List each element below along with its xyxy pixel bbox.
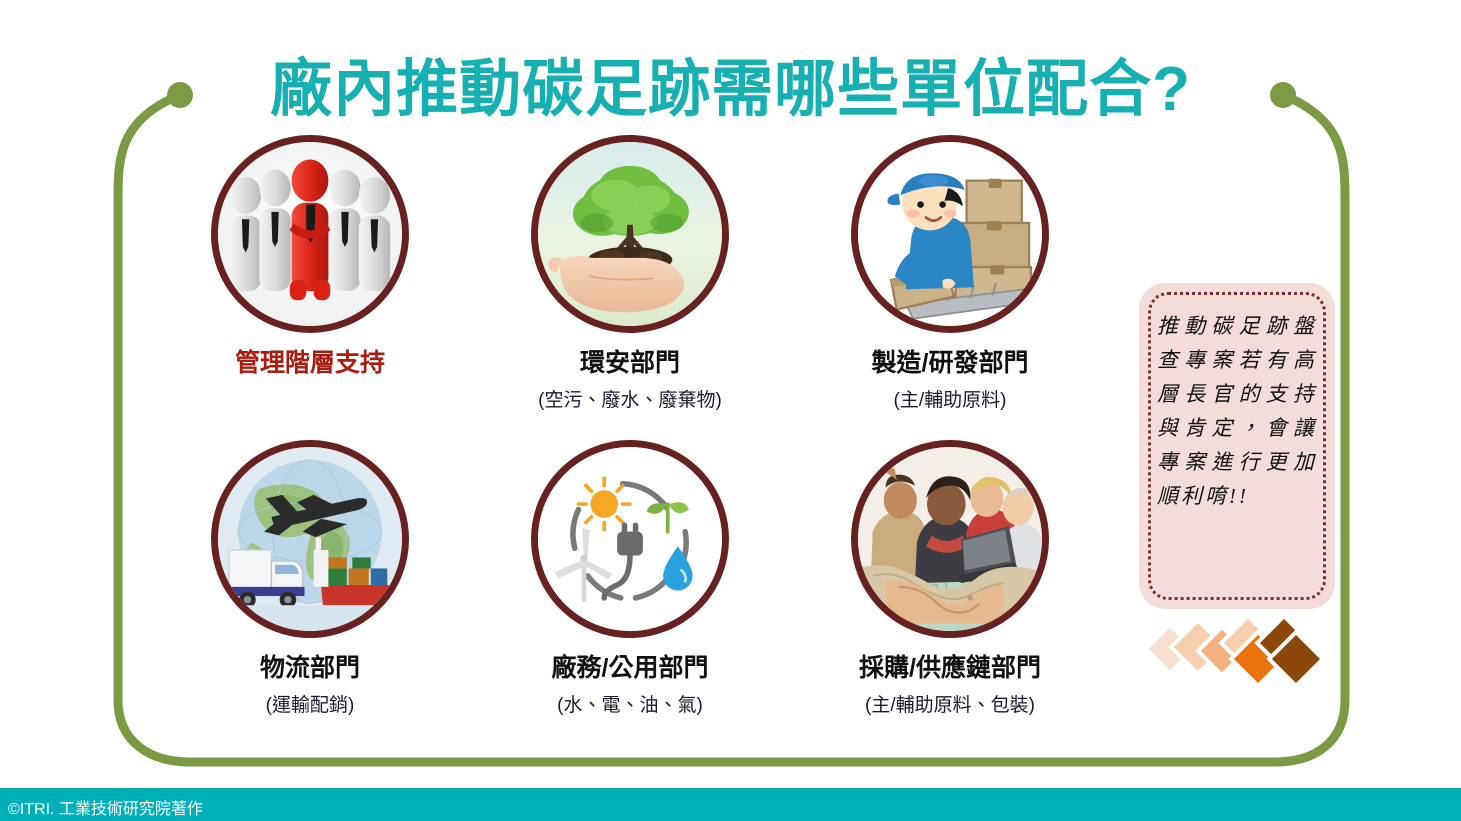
business-team-leader-icon [211, 135, 409, 333]
department-card-procurement-supply-chain[interactable]: 採購/供應鏈部門 (主/輔助原料、包裝) [790, 440, 1110, 717]
department-label: 物流部門 [150, 654, 470, 683]
footer-bar: ©ITRI. 工業技術研究院著作 [0, 788, 1461, 821]
department-card-logistics[interactable]: 物流部門 (運輸配銷) [150, 440, 470, 717]
page-title: 廠內推動碳足跡需哪些單位配合? [0, 38, 1461, 128]
slide-canvas: 廠內推動碳足跡需哪些單位配合? [0, 0, 1461, 821]
department-sublabel: (水、電、油、氣) [470, 690, 790, 717]
tip-note-card: 推動碳足跡盤查專案若有高層長官的支持與肯定，會讓專案進行更加順利唷!! [1139, 283, 1335, 609]
worker-packing-boxes-icon [851, 135, 1049, 333]
hand-holding-tree-icon [531, 135, 729, 333]
department-label: 環安部門 [470, 349, 790, 378]
department-sublabel: (運輸配銷) [150, 690, 470, 717]
department-label: 廠務/公用部門 [470, 654, 790, 683]
energy-utilities-plug-icon [531, 440, 729, 638]
department-sublabel: (主/輔助原料) [790, 385, 1110, 412]
department-card-manufacturing-rd[interactable]: 製造/研發部門 (主/輔助原料) [790, 135, 1110, 412]
department-sublabel: (主/輔助原料、包裝) [790, 690, 1110, 717]
department-grid: 管理階層支持 [150, 135, 1110, 755]
department-card-management-support[interactable]: 管理階層支持 [150, 135, 470, 385]
department-label: 製造/研發部門 [790, 349, 1110, 378]
copyright-text: ©ITRI. 工業技術研究院著作 [8, 795, 203, 819]
handshake-business-deal-icon [851, 440, 1049, 638]
department-sublabel: (空污、廢水、廢棄物) [470, 385, 790, 412]
department-label: 採購/供應鏈部門 [790, 654, 1110, 683]
department-label: 管理階層支持 [150, 349, 470, 378]
tip-note-text: 推動碳足跡盤查專案若有高層長官的支持與肯定，會讓專案進行更加順利唷!! [1157, 309, 1317, 513]
department-card-environment-safety[interactable]: 環安部門 (空污、廢水、廢棄物) [470, 135, 790, 412]
globe-plane-truck-ship-icon [211, 440, 409, 638]
department-card-facility-utility[interactable]: 廠務/公用部門 (水、電、油、氣) [470, 440, 790, 717]
diamond-chevron-decoration [1147, 612, 1347, 692]
